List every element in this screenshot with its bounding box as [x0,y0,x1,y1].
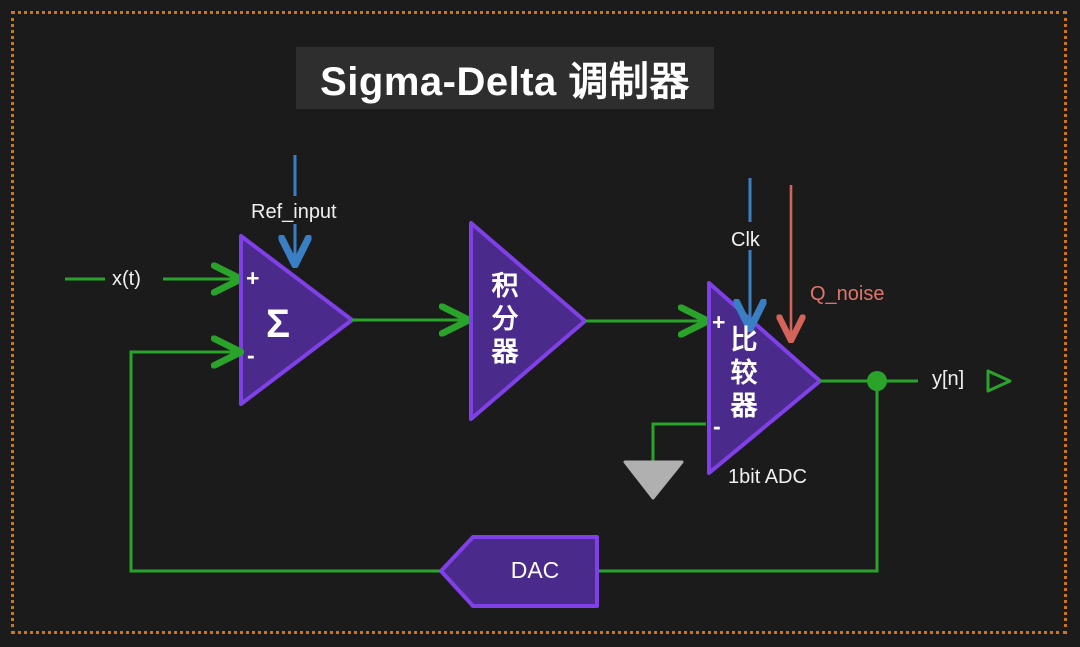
ground-icon [625,462,682,498]
comparator-sublabel: 1bit ADC [728,466,807,489]
input-signal-label: x(t) [112,268,141,291]
dac-block [441,537,597,606]
reference-signal-label: Ref_input [251,201,337,224]
integrator-block [471,223,585,419]
clock-signal-label: Clk [731,229,760,252]
block-diagram-svg [0,0,1080,647]
output-signal-label: y[n] [932,368,964,391]
quantization-noise-label: Q_noise [810,283,885,306]
output-arrow-icon [988,371,1010,391]
comparator-block [709,283,820,473]
feedback-wire-dac-to-summer [131,352,440,571]
diagram-canvas: Sigma-Delta 调制器 [0,0,1080,647]
